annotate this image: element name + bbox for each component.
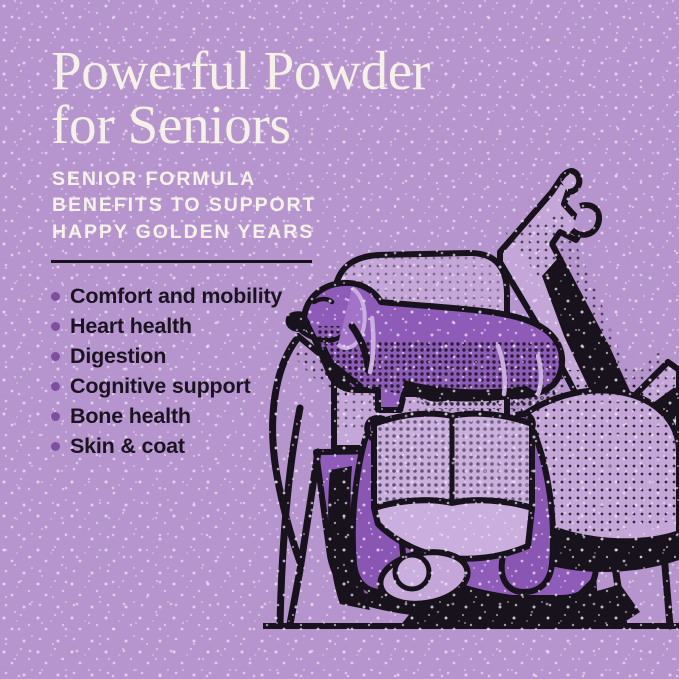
bullet-dot-icon [51,322,60,331]
benefit-label: Skin & coat [70,435,185,458]
list-item: Cognitive support [51,375,511,398]
list-item: Bone health [51,405,511,428]
poster-text-block: Powerful Powder for Seniors SENIOR FORMU… [51,44,511,465]
bullet-dot-icon [51,292,60,301]
list-item: Heart health [51,315,511,338]
bullet-dot-icon [51,382,60,391]
benefits-list: Comfort and mobility Heart health Digest… [51,285,511,458]
list-item: Digestion [51,345,511,368]
bullet-dot-icon [51,442,60,451]
page-title: Powerful Powder for Seniors [51,44,511,152]
benefit-label: Comfort and mobility [70,285,282,308]
benefit-label: Bone health [70,405,191,428]
benefit-label: Digestion [70,345,166,368]
list-item: Comfort and mobility [51,285,511,308]
bullet-dot-icon [51,412,60,421]
divider-rule [51,260,312,263]
poster-canvas: Powerful Powder for Seniors SENIOR FORMU… [0,0,679,679]
list-item: Skin & coat [51,435,511,458]
bullet-dot-icon [51,352,60,361]
benefit-label: Cognitive support [70,375,251,398]
cushion-highlight [395,555,429,589]
poster-subtitle: SENIOR FORMULA BENEFITS TO SUPPORT HAPPY… [52,166,511,246]
benefit-label: Heart health [70,315,192,338]
